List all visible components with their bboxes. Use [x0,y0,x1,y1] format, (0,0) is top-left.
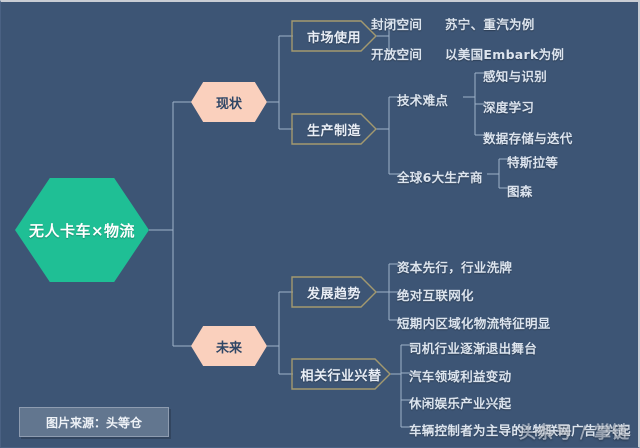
subbranch-node-market-use-label: 市场使用 [307,27,361,46]
leaf-deep-learning[interactable]: 深度学习 [483,97,534,116]
leaf-absolute-internetization[interactable]: 绝对互联网化 [397,285,474,304]
branch-node-current[interactable]: 现状 [191,82,267,122]
source-caption-label: 图片来源：头等仓 [46,414,142,431]
leaf-capital-first-reshuffle[interactable]: 资本先行，行业洗牌 [397,257,512,276]
root-node[interactable]: 无人卡车×物流 [15,178,149,282]
subbranch-node-manufacturing[interactable]: 生产制造 [291,113,377,145]
branch-node-future[interactable]: 未来 [191,326,267,366]
leaf-perception-recognition[interactable]: 感知与识别 [483,66,547,85]
leaf-global-six-manufacturers-key[interactable]: 全球6大生产商 [397,167,483,186]
subbranch-node-market-use[interactable]: 市场使用 [291,20,377,52]
leaf-regional-logistics-feature[interactable]: 短期内区域化物流特征明显 [397,313,551,332]
subbranch-node-industry-shift[interactable]: 相关行业兴替 [291,358,391,390]
subbranch-node-manufacturing-label: 生产制造 [307,120,361,139]
leaf-closed-space-key[interactable]: 封闭空间 [371,14,422,33]
leaf-closed-space-value[interactable]: 苏宁、重汽为例 [445,14,535,33]
leaf-open-space-key[interactable]: 开放空间 [371,44,422,63]
subbranch-node-industry-shift-label: 相关行业兴替 [300,365,381,384]
branch-node-future-label: 未来 [216,337,242,356]
leaf-tech-difficulties-key[interactable]: 技术难点 [397,90,448,109]
leaf-drivers-exit-stage[interactable]: 司机行业逐渐退出舞台 [409,338,537,357]
mindmap-canvas: 无人卡车×物流 现状 未来 市场使用 生产制造 发展趋势 相关行业兴替 封闭空间… [0,0,640,448]
leaf-data-storage-iteration[interactable]: 数据存储与迭代 [483,128,573,147]
branch-node-current-label: 现状 [216,93,242,112]
subbranch-node-trends-label: 发展趋势 [307,283,361,302]
leaf-tesla-etc[interactable]: 特斯拉等 [507,152,558,171]
leaf-auto-interest-shift[interactable]: 汽车领域利益变动 [409,366,511,385]
watermark-text: 头条号 / 掌链 [519,418,630,443]
root-node-label: 无人卡车×物流 [29,220,135,241]
leaf-leisure-entertainment-rise[interactable]: 休闲娱乐产业兴起 [409,393,511,412]
source-caption-box: 图片来源：头等仓 [19,407,169,437]
leaf-open-space-value[interactable]: 以美国Embark为例 [445,44,564,63]
leaf-tusimple[interactable]: 图森 [507,181,533,200]
subbranch-node-trends[interactable]: 发展趋势 [291,276,377,308]
